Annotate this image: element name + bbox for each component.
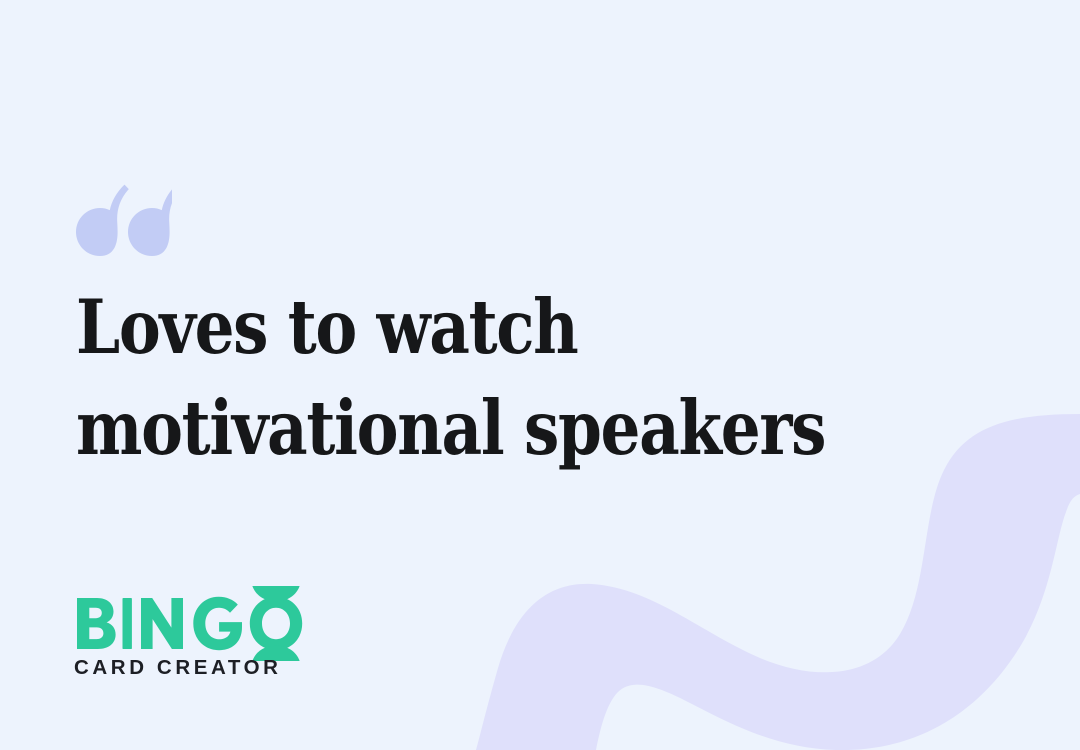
quote-card: Loves to watch motivational speakers xyxy=(0,0,1080,750)
logo-tagline: CARD CREATOR xyxy=(74,656,282,678)
bingo-card-creator-logo-mark: CARD CREATOR xyxy=(74,586,374,678)
brand-logo: CARD CREATOR BINGO CARD CREATOR xyxy=(74,586,374,678)
double-opening-quote-icon xyxy=(76,184,172,256)
headline-line-1: Loves to watch xyxy=(76,277,913,378)
headline-line-2: motivational speakers xyxy=(76,378,913,479)
bingo-wordmark-shapes xyxy=(77,586,302,661)
o-top-arc-icon xyxy=(252,586,299,601)
page-title: Loves to watch motivational speakers xyxy=(76,277,913,479)
